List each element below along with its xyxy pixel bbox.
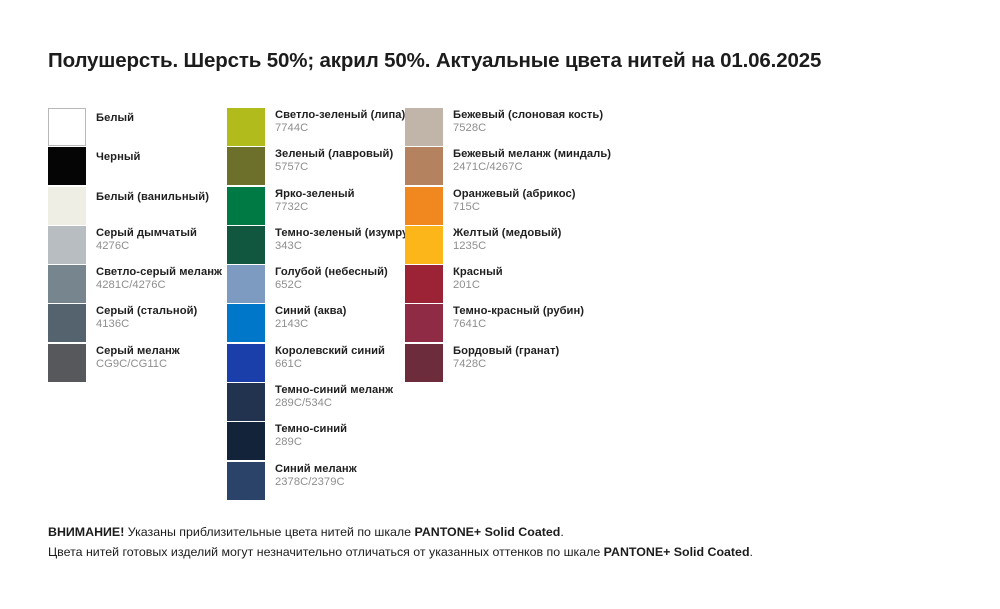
footer-attention-label: ВНИМАНИЕ!	[48, 525, 124, 539]
swatch-pantone-code: 289C/534C	[275, 397, 505, 411]
swatch-name: Темно-синий	[275, 423, 505, 436]
swatch-row[interactable]: Светло-серый меланж4281C/4276C	[48, 265, 228, 304]
swatch-row[interactable]: Красный201C	[405, 265, 605, 304]
swatch-name: Темно-синий меланж	[275, 384, 505, 397]
color-swatch[interactable]	[48, 304, 86, 342]
footer-line-2: Цвета нитей готовых изделий могут незнач…	[48, 543, 958, 563]
swatch-column-neutrals: БелыйЧерныйБелый (ванильный)Серый дымчат…	[48, 108, 228, 383]
color-swatch[interactable]	[405, 304, 443, 342]
swatch-labels: Бордовый (гранат)7428C	[453, 344, 683, 372]
color-swatch[interactable]	[405, 187, 443, 225]
swatch-row[interactable]: Белый (ванильный)	[48, 187, 228, 226]
footer-line-2-text: Цвета нитей готовых изделий могут незнач…	[48, 545, 604, 559]
color-swatch[interactable]	[48, 147, 86, 185]
swatch-row[interactable]: Светло-зеленый (липа)7744C	[227, 108, 405, 147]
swatch-labels: Темно-синий289C	[275, 422, 505, 450]
footer-line-2-period: .	[750, 545, 753, 559]
swatch-labels: Темно-красный (рубин)7641C	[453, 304, 683, 332]
swatch-labels: Желтый (медовый)1235C	[453, 226, 683, 254]
swatch-row[interactable]: Бордовый (гранат)7428C	[405, 344, 605, 383]
swatch-labels: Красный201C	[453, 265, 683, 293]
swatch-row[interactable]: Серый дымчатый4276C	[48, 226, 228, 265]
swatch-pantone-code: 7528C	[453, 122, 683, 136]
swatch-row[interactable]: Темно-красный (рубин)7641C	[405, 304, 605, 343]
color-swatch[interactable]	[48, 187, 86, 225]
swatch-pantone-code: 715C	[453, 201, 683, 215]
swatch-row[interactable]: Темно-синий289C	[227, 422, 405, 461]
page-title: Полушерсть. Шерсть 50%; акрил 50%. Актуа…	[48, 49, 968, 73]
swatch-row[interactable]: Королевский синий661C	[227, 344, 405, 383]
color-swatch[interactable]	[227, 383, 265, 421]
footer-line-1-period: .	[560, 525, 563, 539]
swatch-pantone-code: 7641C	[453, 318, 683, 332]
color-swatch[interactable]	[227, 226, 265, 264]
swatch-name: Бежевый (слоновая кость)	[453, 109, 683, 122]
swatch-name: Темно-красный (рубин)	[453, 305, 683, 318]
color-swatch[interactable]	[405, 108, 443, 146]
footer-line-1: ВНИМАНИЕ! Указаны приблизительные цвета …	[48, 523, 958, 543]
color-swatch[interactable]	[227, 344, 265, 382]
swatch-labels: Оранжевый (абрикос)715C	[453, 187, 683, 215]
footer-line-1-text: Указаны приблизительные цвета нитей по ш…	[124, 525, 414, 539]
color-swatch[interactable]	[48, 108, 86, 146]
swatch-column-warm-reds: Бежевый (слоновая кость)7528CБежевый мел…	[405, 108, 605, 383]
color-swatch[interactable]	[227, 462, 265, 500]
swatch-pantone-code: 1235C	[453, 240, 683, 254]
color-chart-page: Полушерсть. Шерсть 50%; акрил 50%. Актуа…	[0, 0, 1000, 609]
color-swatch[interactable]	[227, 187, 265, 225]
swatch-row[interactable]: Синий (аква)2143C	[227, 304, 405, 343]
swatch-pantone-code: 201C	[453, 279, 683, 293]
swatch-labels: Бежевый (слоновая кость)7528C	[453, 108, 683, 136]
swatch-name: Бордовый (гранат)	[453, 345, 683, 358]
color-swatch[interactable]	[48, 265, 86, 303]
color-swatch[interactable]	[405, 344, 443, 382]
swatch-name: Желтый (медовый)	[453, 227, 683, 240]
swatch-labels: Темно-синий меланж289C/534C	[275, 383, 505, 411]
swatch-pantone-code: 2378C/2379C	[275, 476, 505, 490]
color-swatch[interactable]	[227, 422, 265, 460]
swatch-pantone-code: 7428C	[453, 358, 683, 372]
swatch-pantone-code: 2471C/4267C	[453, 161, 683, 175]
swatch-row[interactable]: Темно-синий меланж289C/534C	[227, 383, 405, 422]
swatch-row[interactable]: Синий меланж2378C/2379C	[227, 462, 405, 501]
swatch-labels: Бежевый меланж (миндаль)2471C/4267C	[453, 147, 683, 175]
swatch-name: Оранжевый (абрикос)	[453, 188, 683, 201]
pantone-brand-1: PANTONE+ Solid Coated	[414, 525, 560, 539]
color-swatch[interactable]	[405, 226, 443, 264]
color-swatch[interactable]	[48, 344, 86, 382]
footer-note: ВНИМАНИЕ! Указаны приблизительные цвета …	[48, 523, 958, 562]
swatch-row[interactable]: Ярко-зеленый7732C	[227, 187, 405, 226]
swatch-row[interactable]: Бежевый (слоновая кость)7528C	[405, 108, 605, 147]
swatch-labels: Синий меланж2378C/2379C	[275, 462, 505, 490]
swatch-row[interactable]: Оранжевый (абрикос)715C	[405, 187, 605, 226]
swatch-row[interactable]: Темно-зеленый (изумруд)343C	[227, 226, 405, 265]
color-swatch[interactable]	[405, 265, 443, 303]
swatch-row[interactable]: Серый (стальной)4136C	[48, 304, 228, 343]
color-swatch[interactable]	[48, 226, 86, 264]
color-swatch[interactable]	[227, 265, 265, 303]
swatch-pantone-code: 289C	[275, 436, 505, 450]
swatch-name: Бежевый меланж (миндаль)	[453, 148, 683, 161]
swatch-row[interactable]: Голубой (небесный)652C	[227, 265, 405, 304]
color-swatch[interactable]	[405, 147, 443, 185]
color-swatch[interactable]	[227, 304, 265, 342]
color-swatch[interactable]	[227, 147, 265, 185]
color-swatch[interactable]	[227, 108, 265, 146]
swatch-row[interactable]: Белый	[48, 108, 228, 147]
swatch-row[interactable]: Бежевый меланж (миндаль)2471C/4267C	[405, 147, 605, 186]
swatch-row[interactable]: Желтый (медовый)1235C	[405, 226, 605, 265]
swatch-row[interactable]: Серый меланжCG9C/CG11C	[48, 344, 228, 383]
swatch-row[interactable]: Зеленый (лавровый)5757C	[227, 147, 405, 186]
swatch-name: Синий меланж	[275, 463, 505, 476]
swatch-name: Красный	[453, 266, 683, 279]
swatch-row[interactable]: Черный	[48, 147, 228, 186]
pantone-brand-2: PANTONE+ Solid Coated	[604, 545, 750, 559]
swatch-column-greens-blues: Светло-зеленый (липа)7744CЗеленый (лавро…	[227, 108, 405, 501]
